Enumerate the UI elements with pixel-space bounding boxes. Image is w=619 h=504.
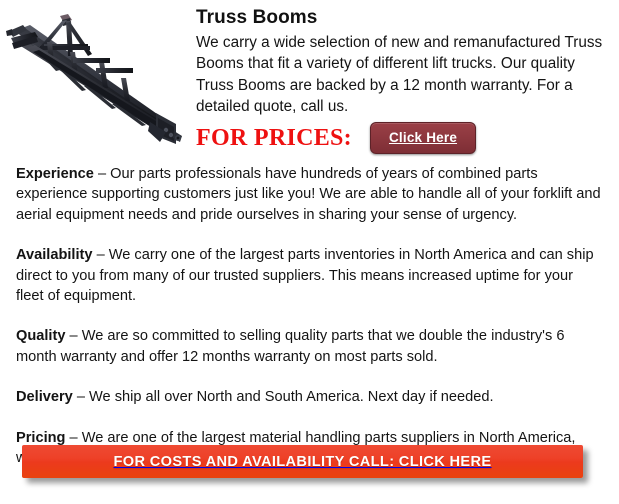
click-here-button[interactable]: Click Here: [370, 122, 476, 154]
cta-banner-button[interactable]: FOR COSTS AND AVAILABILITY CALL: CLICK H…: [22, 445, 583, 478]
page-title: Truss Booms: [196, 6, 608, 30]
product-description: We carry a wide selection of new and rem…: [196, 32, 608, 117]
feature-label-availability: Availability: [16, 247, 93, 263]
feature-experience: Experience – Our parts professionals hav…: [16, 164, 604, 225]
cta-banner-wrapper: FOR COSTS AND AVAILABILITY CALL: CLICK H…: [22, 445, 583, 478]
feature-dash-quality: –: [65, 328, 81, 344]
feature-text-quality: We are so committed to selling quality p…: [16, 328, 564, 364]
feature-list: Experience – Our parts professionals hav…: [16, 164, 604, 468]
product-page: Truss Booms We carry a wide selection of…: [0, 0, 619, 504]
feature-dash-experience: –: [94, 166, 110, 182]
feature-quality: Quality – We are so committed to selling…: [16, 326, 604, 367]
feature-dash-delivery: –: [73, 389, 89, 405]
feature-label-experience: Experience: [16, 166, 94, 182]
for-prices-label: FOR PRICES:: [196, 125, 352, 151]
feature-delivery: Delivery – We ship all over North and So…: [16, 387, 604, 407]
feature-availability: Availability – We carry one of the large…: [16, 245, 604, 306]
feature-text-delivery: We ship all over North and South America…: [89, 389, 494, 405]
hero-text-block: Truss Booms We carry a wide selection of…: [196, 6, 608, 117]
cta-banner-label: FOR COSTS AND AVAILABILITY CALL: CLICK H…: [114, 454, 492, 470]
feature-label-quality: Quality: [16, 328, 65, 344]
feature-label-delivery: Delivery: [16, 389, 73, 405]
hero-section: Truss Booms We carry a wide selection of…: [0, 0, 619, 160]
feature-dash-availability: –: [93, 247, 109, 263]
feature-dash-pricing: –: [65, 430, 81, 446]
truss-boom-product-image: [0, 0, 190, 160]
for-prices-row: FOR PRICES: Click Here: [196, 122, 476, 154]
feature-label-pricing: Pricing: [16, 430, 65, 446]
